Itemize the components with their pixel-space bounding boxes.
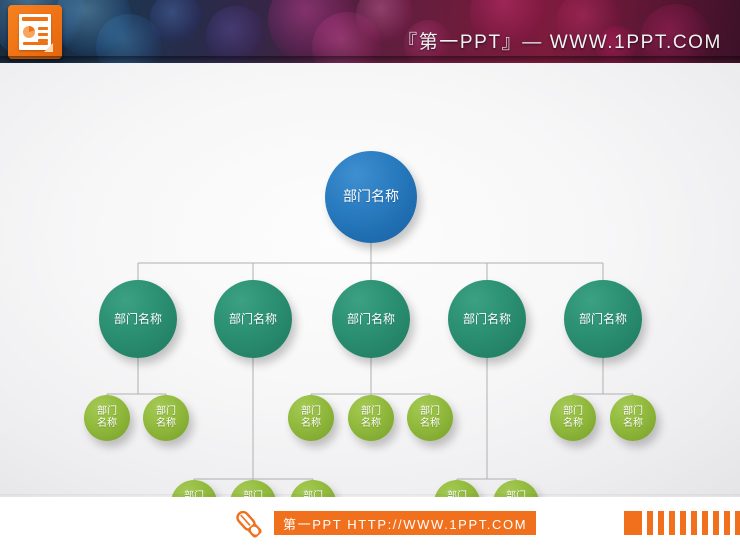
- footer-stripe: [702, 511, 708, 535]
- org-node-level3-2[interactable]: 部门名称: [143, 395, 189, 441]
- node-label: 部门名称: [623, 406, 643, 430]
- footer-stripe: [691, 511, 697, 535]
- node-label: 部门名称: [114, 312, 162, 326]
- org-node-level2-1[interactable]: 部门名称: [99, 280, 177, 358]
- org-node-level3-4[interactable]: 部门名称: [348, 395, 394, 441]
- node-label: 部门名称: [463, 312, 511, 326]
- org-node-level3-3[interactable]: 部门名称: [288, 395, 334, 441]
- node-label: 部门名称: [347, 312, 395, 326]
- site-title: 『第一PPT』— WWW.1PPT.COM: [398, 27, 722, 54]
- bokeh-circle: [54, 0, 132, 58]
- org-node-level3-1[interactable]: 部门名称: [84, 395, 130, 441]
- node-label: 部门名称: [156, 406, 176, 430]
- org-node-level2-5[interactable]: 部门名称: [564, 280, 642, 358]
- node-label: 部门名称: [301, 406, 321, 430]
- footer-stripe: [658, 511, 664, 535]
- node-label: 部门名称: [563, 406, 583, 430]
- footer-url-text: 第一PPT HTTP://WWW.1PPT.COM: [283, 514, 527, 533]
- footer-stripe: [735, 511, 740, 535]
- org-node-level3-5[interactable]: 部门名称: [407, 395, 453, 441]
- footer-url-banner: 第一PPT HTTP://WWW.1PPT.COM: [274, 511, 536, 535]
- ppt-document-icon: [8, 5, 62, 59]
- footer-stripe: [624, 511, 642, 535]
- node-label: 部门名称: [229, 312, 277, 326]
- bokeh-circle: [268, 0, 356, 63]
- node-label: 部门名称: [420, 406, 440, 430]
- org-node-root[interactable]: 部门名称: [325, 151, 417, 243]
- site-footer: 第一PPT HTTP://WWW.1PPT.COM: [0, 497, 740, 555]
- footer-stripe: [724, 511, 730, 535]
- bokeh-circle: [206, 6, 266, 63]
- slide-viewer: 『第一PPT』— WWW.1PPT.COM 部门名称部门名称部门名称部门名称部门…: [0, 0, 740, 555]
- footer-stripe: [647, 511, 653, 535]
- site-header-banner: 『第一PPT』— WWW.1PPT.COM: [0, 0, 740, 63]
- footer-stripe-group: [624, 511, 740, 535]
- org-node-level2-4[interactable]: 部门名称: [448, 280, 526, 358]
- footer-stripe: [680, 511, 686, 535]
- node-label: 部门名称: [361, 406, 381, 430]
- node-label: 部门名称: [579, 312, 627, 326]
- org-node-level3-7[interactable]: 部门名称: [610, 395, 656, 441]
- node-label: 部门名称: [343, 189, 399, 206]
- header-shadow: [0, 56, 740, 63]
- footer-stripe: [713, 511, 719, 535]
- bokeh-circle: [150, 0, 202, 44]
- pie-chart-icon: [23, 26, 35, 38]
- highlighter-pen-icon: [232, 508, 266, 542]
- logo-corner-fold: [44, 43, 53, 52]
- org-node-level3-6[interactable]: 部门名称: [550, 395, 596, 441]
- footer-stripe: [669, 511, 675, 535]
- org-node-level2-2[interactable]: 部门名称: [214, 280, 292, 358]
- org-node-level2-3[interactable]: 部门名称: [332, 280, 410, 358]
- slide-canvas: 部门名称部门名称部门名称部门名称部门名称部门名称部门名称部门名称部门名称部门名称…: [0, 63, 740, 497]
- node-label: 部门名称: [97, 406, 117, 430]
